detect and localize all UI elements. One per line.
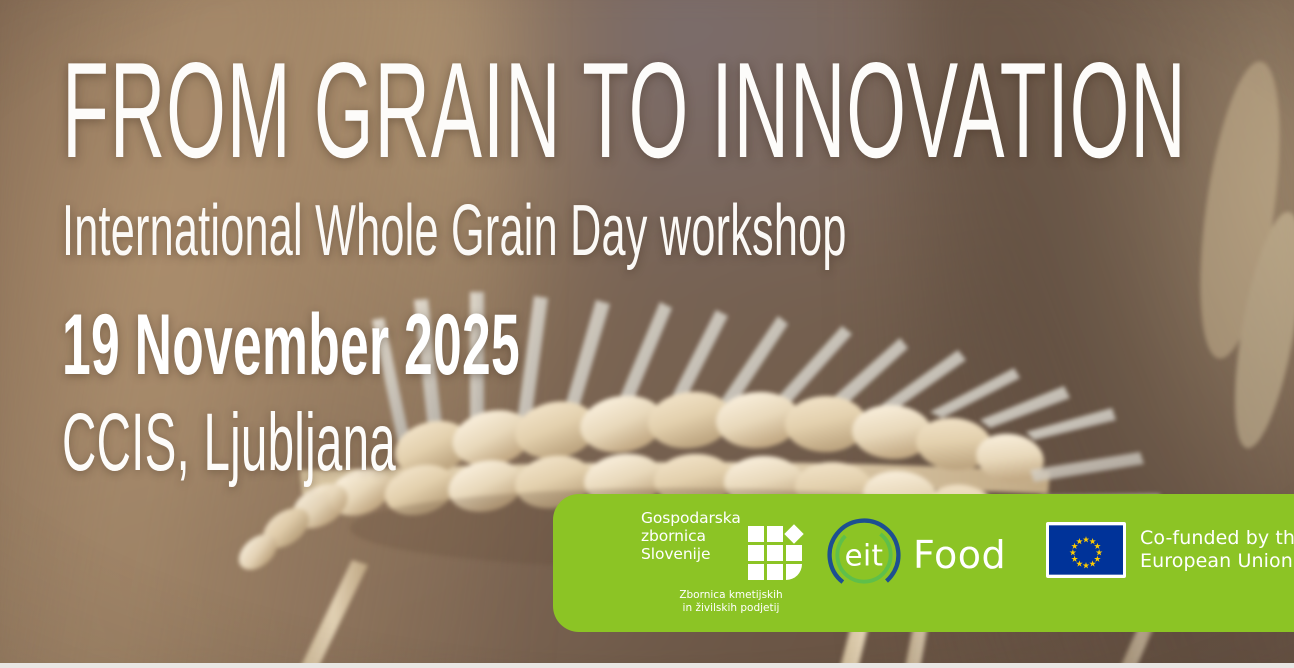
gzs-grid-icon <box>748 526 802 580</box>
page-subtitle: International Whole Grain Day workshop <box>62 195 602 267</box>
eu-funding-text: Co-funded by the European Union <box>1140 527 1294 573</box>
gzs-cell-diamond <box>784 524 803 543</box>
gzs-cell-rounded <box>786 564 802 580</box>
event-date: 19 November 2025 <box>62 302 482 388</box>
eu-funding-line-1: Co-funded by the <box>1140 527 1294 550</box>
page-title: FROM GRAIN TO INNOVATION <box>62 48 571 173</box>
eit-circle-icon: eit <box>821 512 907 598</box>
logo-eit-food: eit Food <box>821 512 1006 598</box>
sponsor-bar: Gospodarska zbornica Slovenije Z <box>553 494 1294 632</box>
gzs-lockup: Gospodarska zbornica Slovenije <box>641 510 821 580</box>
svg-text:eit: eit <box>845 538 884 572</box>
event-venue: CCIS, Ljubljana <box>62 402 468 484</box>
gzs-subtitle: Zbornica kmetijskih in živilskih podjeti… <box>641 589 821 615</box>
gzs-cell <box>748 526 764 542</box>
event-poster: FROM GRAIN TO INNOVATION International W… <box>0 0 1294 668</box>
headline-block: FROM GRAIN TO INNOVATION International W… <box>62 48 962 267</box>
gzs-subtitle-line-2: in živilskih podjetij <box>641 602 821 615</box>
gzs-cell <box>748 545 764 561</box>
eu-funding-line-2: European Union <box>1140 550 1294 573</box>
gzs-wordmark: Gospodarska zbornica Slovenije <box>641 510 741 564</box>
gzs-cell <box>767 545 783 561</box>
gzs-line-3: Slovenije <box>641 546 741 564</box>
bottom-edge-strip <box>0 663 1294 668</box>
logo-gzs: Gospodarska zbornica Slovenije Z <box>641 510 821 615</box>
event-details-block: 19 November 2025 CCIS, Ljubljana <box>62 302 762 484</box>
gzs-cell <box>767 526 783 542</box>
gzs-cell <box>748 564 764 580</box>
gzs-line-2: zbornica <box>641 528 741 546</box>
gzs-line-1: Gospodarska <box>641 510 741 528</box>
eu-flag-frame <box>1046 522 1126 578</box>
logo-european-union: Co-funded by the European Union <box>1046 522 1294 578</box>
eu-flag-icon <box>1049 525 1123 575</box>
gzs-cell <box>767 564 783 580</box>
eit-food-wordmark: Food <box>913 536 1006 574</box>
gzs-cell <box>786 545 802 561</box>
gzs-subtitle-line-1: Zbornica kmetijskih <box>641 589 821 602</box>
